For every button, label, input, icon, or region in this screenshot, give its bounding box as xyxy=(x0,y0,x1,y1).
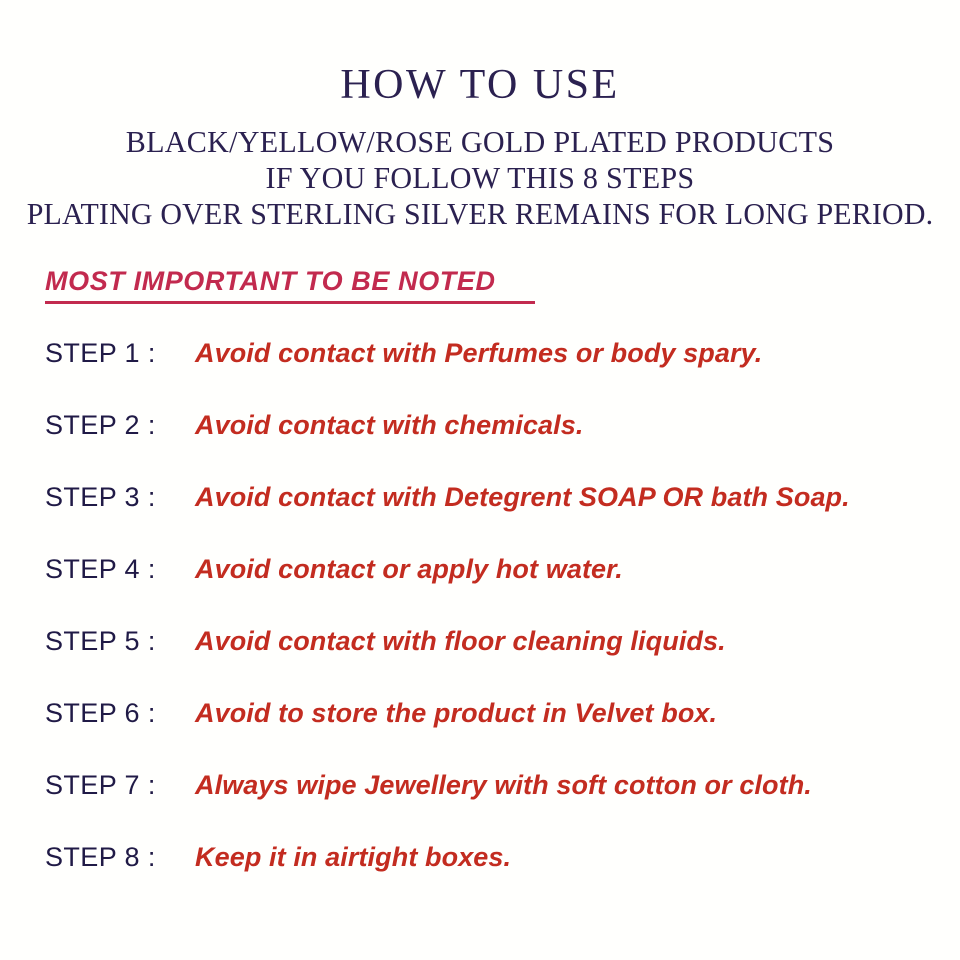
step-row: STEP 2 : Avoid contact with chemicals. xyxy=(45,410,960,482)
step-label: STEP 1 : xyxy=(45,338,195,368)
subtitle-block: BLACK/YELLOW/ROSE GOLD PLATED PRODUCTS I… xyxy=(0,124,960,232)
poster-header: HOW TO USE BLACK/YELLOW/ROSE GOLD PLATED… xyxy=(0,0,960,232)
step-label: STEP 7 : xyxy=(45,770,195,800)
subtitle-line-2: IF YOU FOLLOW THIS 8 STEPS xyxy=(14,160,945,196)
step-row: STEP 1 : Avoid contact with Perfumes or … xyxy=(45,338,960,410)
step-row: STEP 6 : Avoid to store the product in V… xyxy=(45,698,960,770)
step-label: STEP 2 : xyxy=(45,410,195,440)
step-text: Avoid contact with chemicals. xyxy=(195,410,584,440)
step-row: STEP 3 : Avoid contact with Detegrent SO… xyxy=(45,482,960,554)
step-label: STEP 6 : xyxy=(45,698,195,728)
how-to-use-poster: HOW TO USE BLACK/YELLOW/ROSE GOLD PLATED… xyxy=(0,0,960,960)
important-notice-underline xyxy=(45,301,535,304)
step-row: STEP 7 : Always wipe Jewellery with soft… xyxy=(45,770,960,842)
steps-list: STEP 1 : Avoid contact with Perfumes or … xyxy=(0,338,960,914)
important-notice-heading: MOST IMPORTANT TO BE NOTED xyxy=(45,266,535,304)
step-text: Keep it in airtight boxes. xyxy=(195,842,511,872)
subtitle-line-3: PLATING OVER STERLING SILVER REMAINS FOR… xyxy=(17,196,943,232)
step-text: Avoid to store the product in Velvet box… xyxy=(195,698,717,728)
step-text: Avoid contact with Perfumes or body spar… xyxy=(195,338,762,368)
subtitle-line-1: BLACK/YELLOW/ROSE GOLD PLATED PRODUCTS xyxy=(14,124,945,160)
page-title: HOW TO USE xyxy=(0,62,960,108)
step-text: Avoid contact with Detegrent SOAP OR bat… xyxy=(195,482,850,512)
important-notice-label: MOST IMPORTANT TO BE NOTED xyxy=(45,266,535,296)
step-text: Always wipe Jewellery with soft cotton o… xyxy=(195,770,812,800)
step-text: Avoid contact or apply hot water. xyxy=(195,554,623,584)
step-row: STEP 4 : Avoid contact or apply hot wate… xyxy=(45,554,960,626)
step-label: STEP 3 : xyxy=(45,482,195,512)
step-label: STEP 4 : xyxy=(45,554,195,584)
step-label: STEP 5 : xyxy=(45,626,195,656)
step-label: STEP 8 : xyxy=(45,842,195,872)
step-text: Avoid contact with floor cleaning liquid… xyxy=(195,626,726,656)
step-row: STEP 5 : Avoid contact with floor cleani… xyxy=(45,626,960,698)
step-row: STEP 8 : Keep it in airtight boxes. xyxy=(45,842,960,914)
